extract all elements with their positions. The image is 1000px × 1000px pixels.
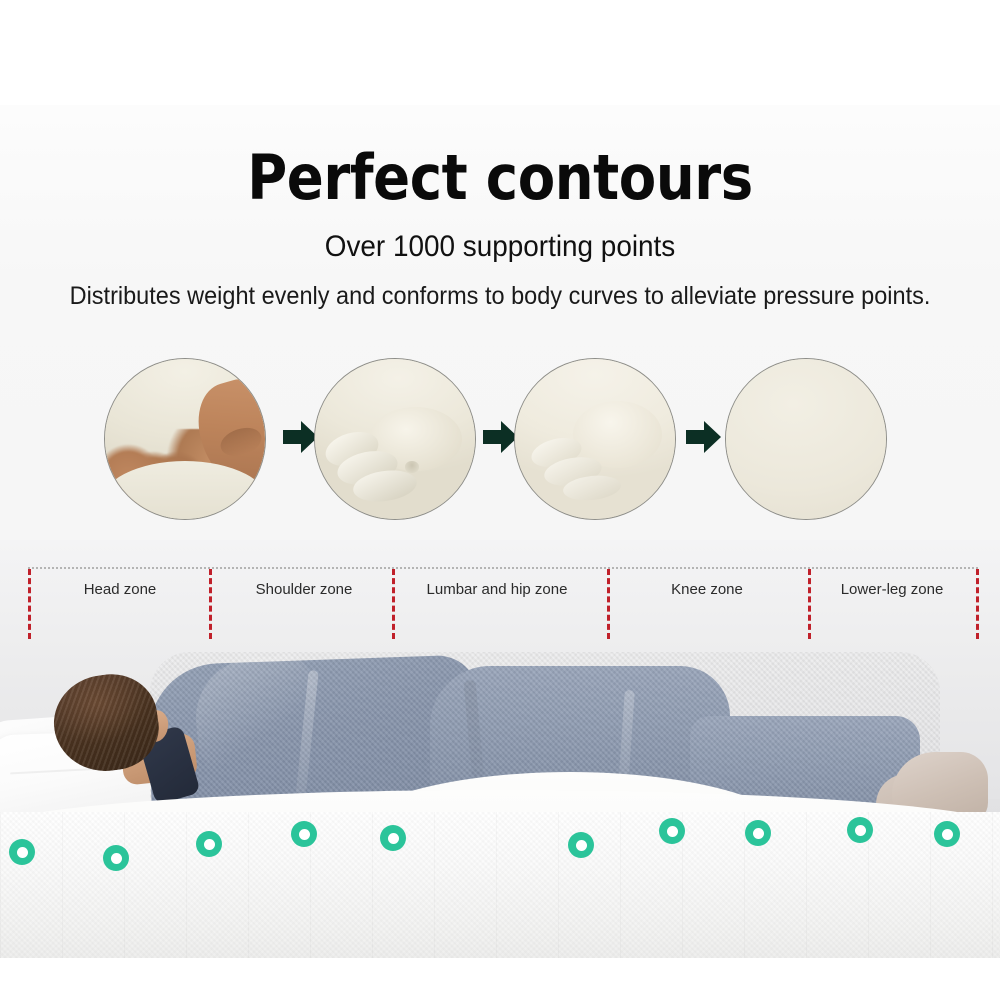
support-point-marker — [103, 845, 129, 871]
support-point-center — [942, 829, 953, 840]
support-point-center — [111, 853, 122, 864]
infographic-page: Perfect contours Over 1000 supporting po… — [0, 0, 1000, 1000]
zone-divider-1 — [209, 569, 212, 639]
right-arrow-icon-3 — [686, 420, 722, 454]
zone-band — [28, 567, 978, 639]
support-point-center — [17, 847, 28, 858]
zone-divider-3 — [607, 569, 610, 639]
support-point-marker — [745, 820, 771, 846]
support-point-center — [855, 825, 866, 836]
support-point-marker — [291, 821, 317, 847]
support-point-marker — [196, 831, 222, 857]
page-title: Perfect contours — [60, 143, 940, 213]
zone-divider-2 — [392, 569, 395, 639]
support-point-marker — [934, 821, 960, 847]
foam-recovery-sequence — [0, 358, 1000, 518]
thumb-dent — [405, 461, 419, 472]
zone-divider-5 — [976, 569, 979, 639]
support-point-marker — [380, 825, 406, 851]
subtitle: Over 1000 supporting points — [35, 229, 965, 265]
foam-step-fading-hand-impression — [514, 358, 676, 520]
foam-step-fully-recovered-foam — [725, 358, 887, 520]
zone-band-top-border — [28, 567, 978, 569]
support-point-center — [299, 829, 310, 840]
support-point-marker — [568, 832, 594, 858]
zone-label-lumbar-and-hip-zone: Lumbar and hip zone — [377, 581, 617, 598]
support-point-marker — [9, 839, 35, 865]
support-point-marker — [659, 818, 685, 844]
support-point-center — [576, 840, 587, 851]
foam-surface — [726, 359, 886, 519]
support-point-center — [388, 833, 399, 844]
support-point-center — [204, 839, 215, 850]
foam-step-deep-hand-impression — [314, 358, 476, 520]
support-point-center — [753, 828, 764, 839]
zone-label-lower-leg-zone: Lower-leg zone — [772, 581, 1000, 598]
foam-step-hand-pressing-foam — [104, 358, 266, 520]
zone-divider-4 — [808, 569, 811, 639]
support-point-marker — [847, 817, 873, 843]
zone-divider-0 — [28, 569, 31, 639]
description-text: Distributes weight evenly and conforms t… — [30, 280, 970, 312]
support-point-center — [667, 826, 678, 837]
